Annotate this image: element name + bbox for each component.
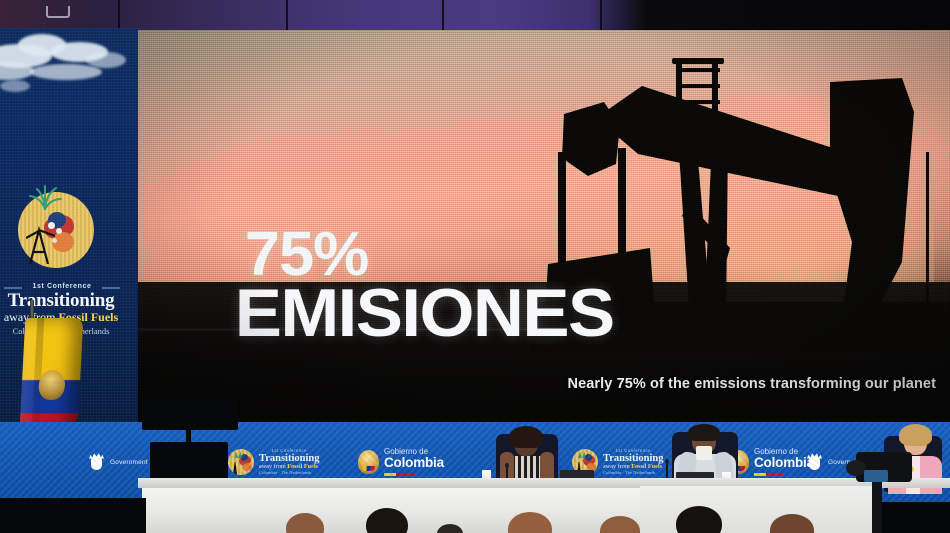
video-camera (846, 452, 932, 533)
colombia-line2: Colombia (384, 456, 444, 470)
banner-pre-title: 1st Conference (0, 283, 124, 290)
screenshot-root: 1st Conference Transitioning away from F… (0, 0, 950, 533)
mini-pre-title: 1st Conference (603, 449, 664, 453)
pumpjack-icon (26, 222, 56, 264)
colombia-flag-bar (384, 473, 414, 476)
mini-countries: Colombia · The Netherlands (603, 471, 664, 476)
colombia-flag-bar (754, 473, 784, 476)
led-screen: 75% EMISIONES Nearly 75% of the emission… (138, 30, 950, 422)
netherlands-crest-icon (806, 452, 823, 473)
mini-subtitle: away from Fossil Fuels (603, 464, 664, 471)
conference-logo-icon (228, 449, 254, 475)
screen-headline-main: EMISIONES (235, 282, 614, 345)
mini-subtitle-accent: Fossil Fuels (287, 463, 318, 470)
colombia-coat-of-arms (38, 370, 66, 400)
palm-icon (28, 184, 62, 210)
screen-caption: Nearly 75% of the emissions transforming… (568, 376, 937, 392)
ceiling-light-fixture (46, 6, 70, 18)
colombia-crest-icon (358, 450, 379, 474)
netherlands-crest-icon (88, 452, 105, 473)
mini-subtitle-plain: away from (259, 463, 287, 470)
colombia-line2: Colombia (754, 456, 814, 470)
mini-subtitle-plain: away from (603, 463, 631, 470)
mini-subtitle: away from Fossil Fuels (259, 464, 320, 471)
ceiling-panels (0, 0, 950, 34)
colombia-line1: Gobierno de (384, 448, 444, 456)
mini-pre-title: 1st Conference (259, 449, 320, 453)
conference-logo (8, 176, 96, 276)
mini-title: Transitioning (603, 453, 664, 464)
mini-countries: Colombia · The Netherlands (259, 471, 320, 476)
colombia-line1: Gobierno de (754, 448, 814, 456)
banner-title: Transitioning (0, 290, 126, 312)
mini-title: Transitioning (259, 453, 320, 464)
monitor-stand (186, 425, 191, 453)
mini-subtitle-accent: Fossil Fuels (631, 463, 662, 470)
foreground-shadow (0, 498, 146, 533)
